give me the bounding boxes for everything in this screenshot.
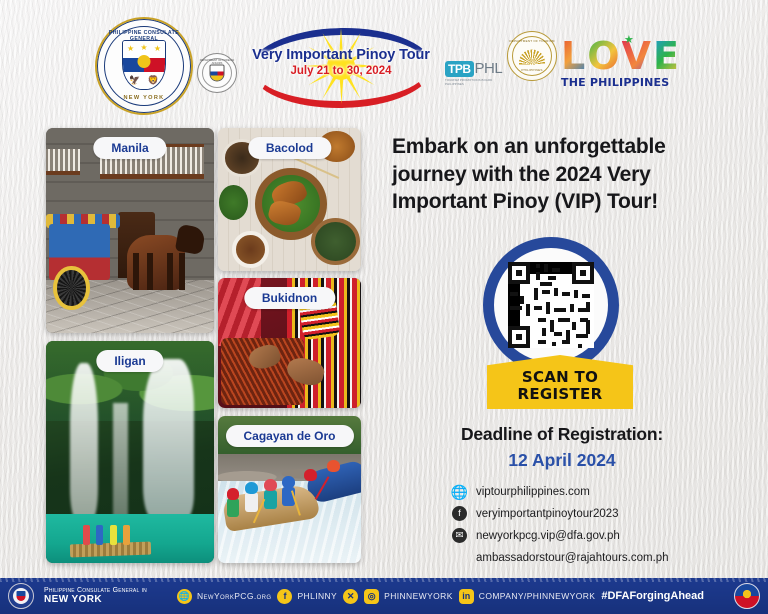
photo-label-iligan: Iligan [96,350,163,372]
love-letter-l: L [561,37,585,75]
iligan-waterfall-image [46,341,214,563]
love-star-icon: ★ [624,33,634,46]
tpb-phl-logo: TPB PHL TOURISM PROMOTIONS BOARD PHILIPP… [445,60,503,106]
contact-facebook[interactable]: veryimportantpinoytour2023 [476,508,619,520]
footer-item-instagram[interactable]: ◎ PHINNEWYORK [364,589,453,604]
envelope-icon: ✉ [452,528,467,543]
footer-item-facebook[interactable]: f PHLINNY [277,589,337,604]
consulate-seal-bottom-text: NEW YORK [97,95,191,101]
footer-bar: Philippine Consulate General in NEW YORK… [0,578,768,614]
contact-email-primary[interactable]: newyorkpcg.vip@dfa.gov.ph [476,530,620,542]
tpb-badge-label: TPB [445,61,474,77]
photo-bacolod: Bacolod [218,128,361,271]
vip-tour-title: Very Important Pinoy Tour [241,47,441,63]
tpb-suffix-label: PHL [475,60,503,77]
logo-bar: PHILIPPINE CONSULATE GENERAL ★★★ 🦅🦁 NEW … [0,10,768,122]
vip-tour-dates: July 21 to 30, 2024 [241,65,441,77]
photo-label-bukidnon: Bukidnon [244,287,335,309]
contact-row-facebook[interactable]: f veryimportantpinoytour2023 [452,506,742,521]
scan-line-2: REGISTER [518,386,603,403]
qr-register-block[interactable]: SCAN TO REGISTER [483,237,635,409]
love-subtitle: THE PHILIPPINES [561,76,673,89]
deadline-label: Deadline of Registration: [392,424,732,445]
footer-consulate-seal-icon [8,583,34,609]
destination-photo-grid: Manila Iligan Bacolod [46,128,361,566]
scan-to-register-button[interactable]: SCAN TO REGISTER [487,355,633,409]
vip-tour-logo: Very Important Pinoy Tour July 21 to 30,… [241,20,441,112]
photo-cagayan-de-oro: Cagayan de Oro [218,416,361,563]
poster-canvas: PHILIPPINE CONSULATE GENERAL ★★★ 🦅🦁 NEW … [0,0,768,614]
footer-hashtag-label: #DFAForgingAhead [601,590,704,602]
photo-label-manila: Manila [93,137,166,159]
footer-instagram-label: PHINNEWYORK [384,591,453,601]
contact-list: 🌐 viptourphilippines.com f veryimportant… [452,484,742,572]
photo-iligan: Iligan [46,341,214,563]
deadline-date: 12 April 2024 [392,450,732,471]
footer-facebook-label: PHLINNY [297,591,337,601]
footer-linkedin-label: COMPANY/PHINNEWYORK [479,591,596,601]
dfa-seal-icon: DEPARTMENT OF FOREIGN AFFAIRS [197,53,237,93]
footer-item-website[interactable]: 🌐 NewYorkPCG.org [177,589,272,604]
photo-label-bacolod: Bacolod [248,137,331,159]
contact-row-website[interactable]: 🌐 viptourphilippines.com [452,484,742,499]
globe-icon: 🌐 [177,589,192,604]
dfa-shield-icon [210,65,225,82]
deadline-block: Deadline of Registration: 12 April 2024 [392,424,732,471]
dot-seal-bottom-text: PHILIPPINES [508,68,556,72]
footer-hashtag: #DFAForgingAhead [601,590,704,602]
love-letter-e: E [653,37,679,75]
footer-website-label: NewYorkPCG.org [197,591,272,601]
footer-social-items: 🌐 NewYorkPCG.org f PHLINNY ✕ ◎ PHINNEWYO… [157,589,724,604]
page-title: Embark on an unforgettable journey with … [392,133,732,216]
contact-email-secondary[interactable]: ambassadorstour@rajahtours.com.ph [476,552,669,564]
love-the-philippines-logo: ★ L O V E THE PHILIPPINES [561,35,673,97]
footer-consulate-text: Philippine Consulate General in NEW YORK [44,587,147,606]
footer-consulate-line1: Philippine Consulate General in [44,587,147,595]
contact-website[interactable]: viptourphilippines.com [476,486,590,498]
tpb-subtitle: TOURISM PROMOTIONS BOARD PHILIPPINES [445,78,503,86]
spacer-icon [452,550,467,565]
contact-row-email-primary[interactable]: ✉ newyorkpcg.vip@dfa.gov.ph [452,528,742,543]
footer-consulate-line2: NEW YORK [44,594,147,605]
linkedin-icon: in [459,589,474,604]
philippine-flag-seal-icon [734,583,760,609]
scan-line-1: SCAN TO [522,369,598,386]
x-twitter-icon: ✕ [343,589,358,604]
instagram-icon: ◎ [364,589,379,604]
photo-bukidnon: Bukidnon [218,278,361,408]
footer-item-x[interactable]: ✕ [343,589,358,604]
photo-manila: Manila [46,128,214,333]
qr-code-icon[interactable] [508,262,594,348]
photo-label-cagayan-de-oro: Cagayan de Oro [225,425,353,447]
contact-row-email-secondary[interactable]: ambassadorstour@rajahtours.com.ph [452,550,742,565]
dot-seal-icon: DEPARTMENT OF TOURISM PHILIPPINES [507,31,557,81]
globe-icon: 🌐 [452,484,467,499]
love-letter-o: O [587,37,619,75]
qr-ring [483,237,619,373]
footer-item-linkedin[interactable]: in COMPANY/PHINNEWYORK [459,589,596,604]
consulate-shield-icon: ★★★ 🦅🦁 [122,40,166,90]
consulate-seal-icon: PHILIPPINE CONSULATE GENERAL ★★★ 🦅🦁 NEW … [95,17,193,115]
facebook-icon: f [452,506,467,521]
facebook-icon: f [277,589,292,604]
dot-seal-top-text: DEPARTMENT OF TOURISM [508,39,556,43]
